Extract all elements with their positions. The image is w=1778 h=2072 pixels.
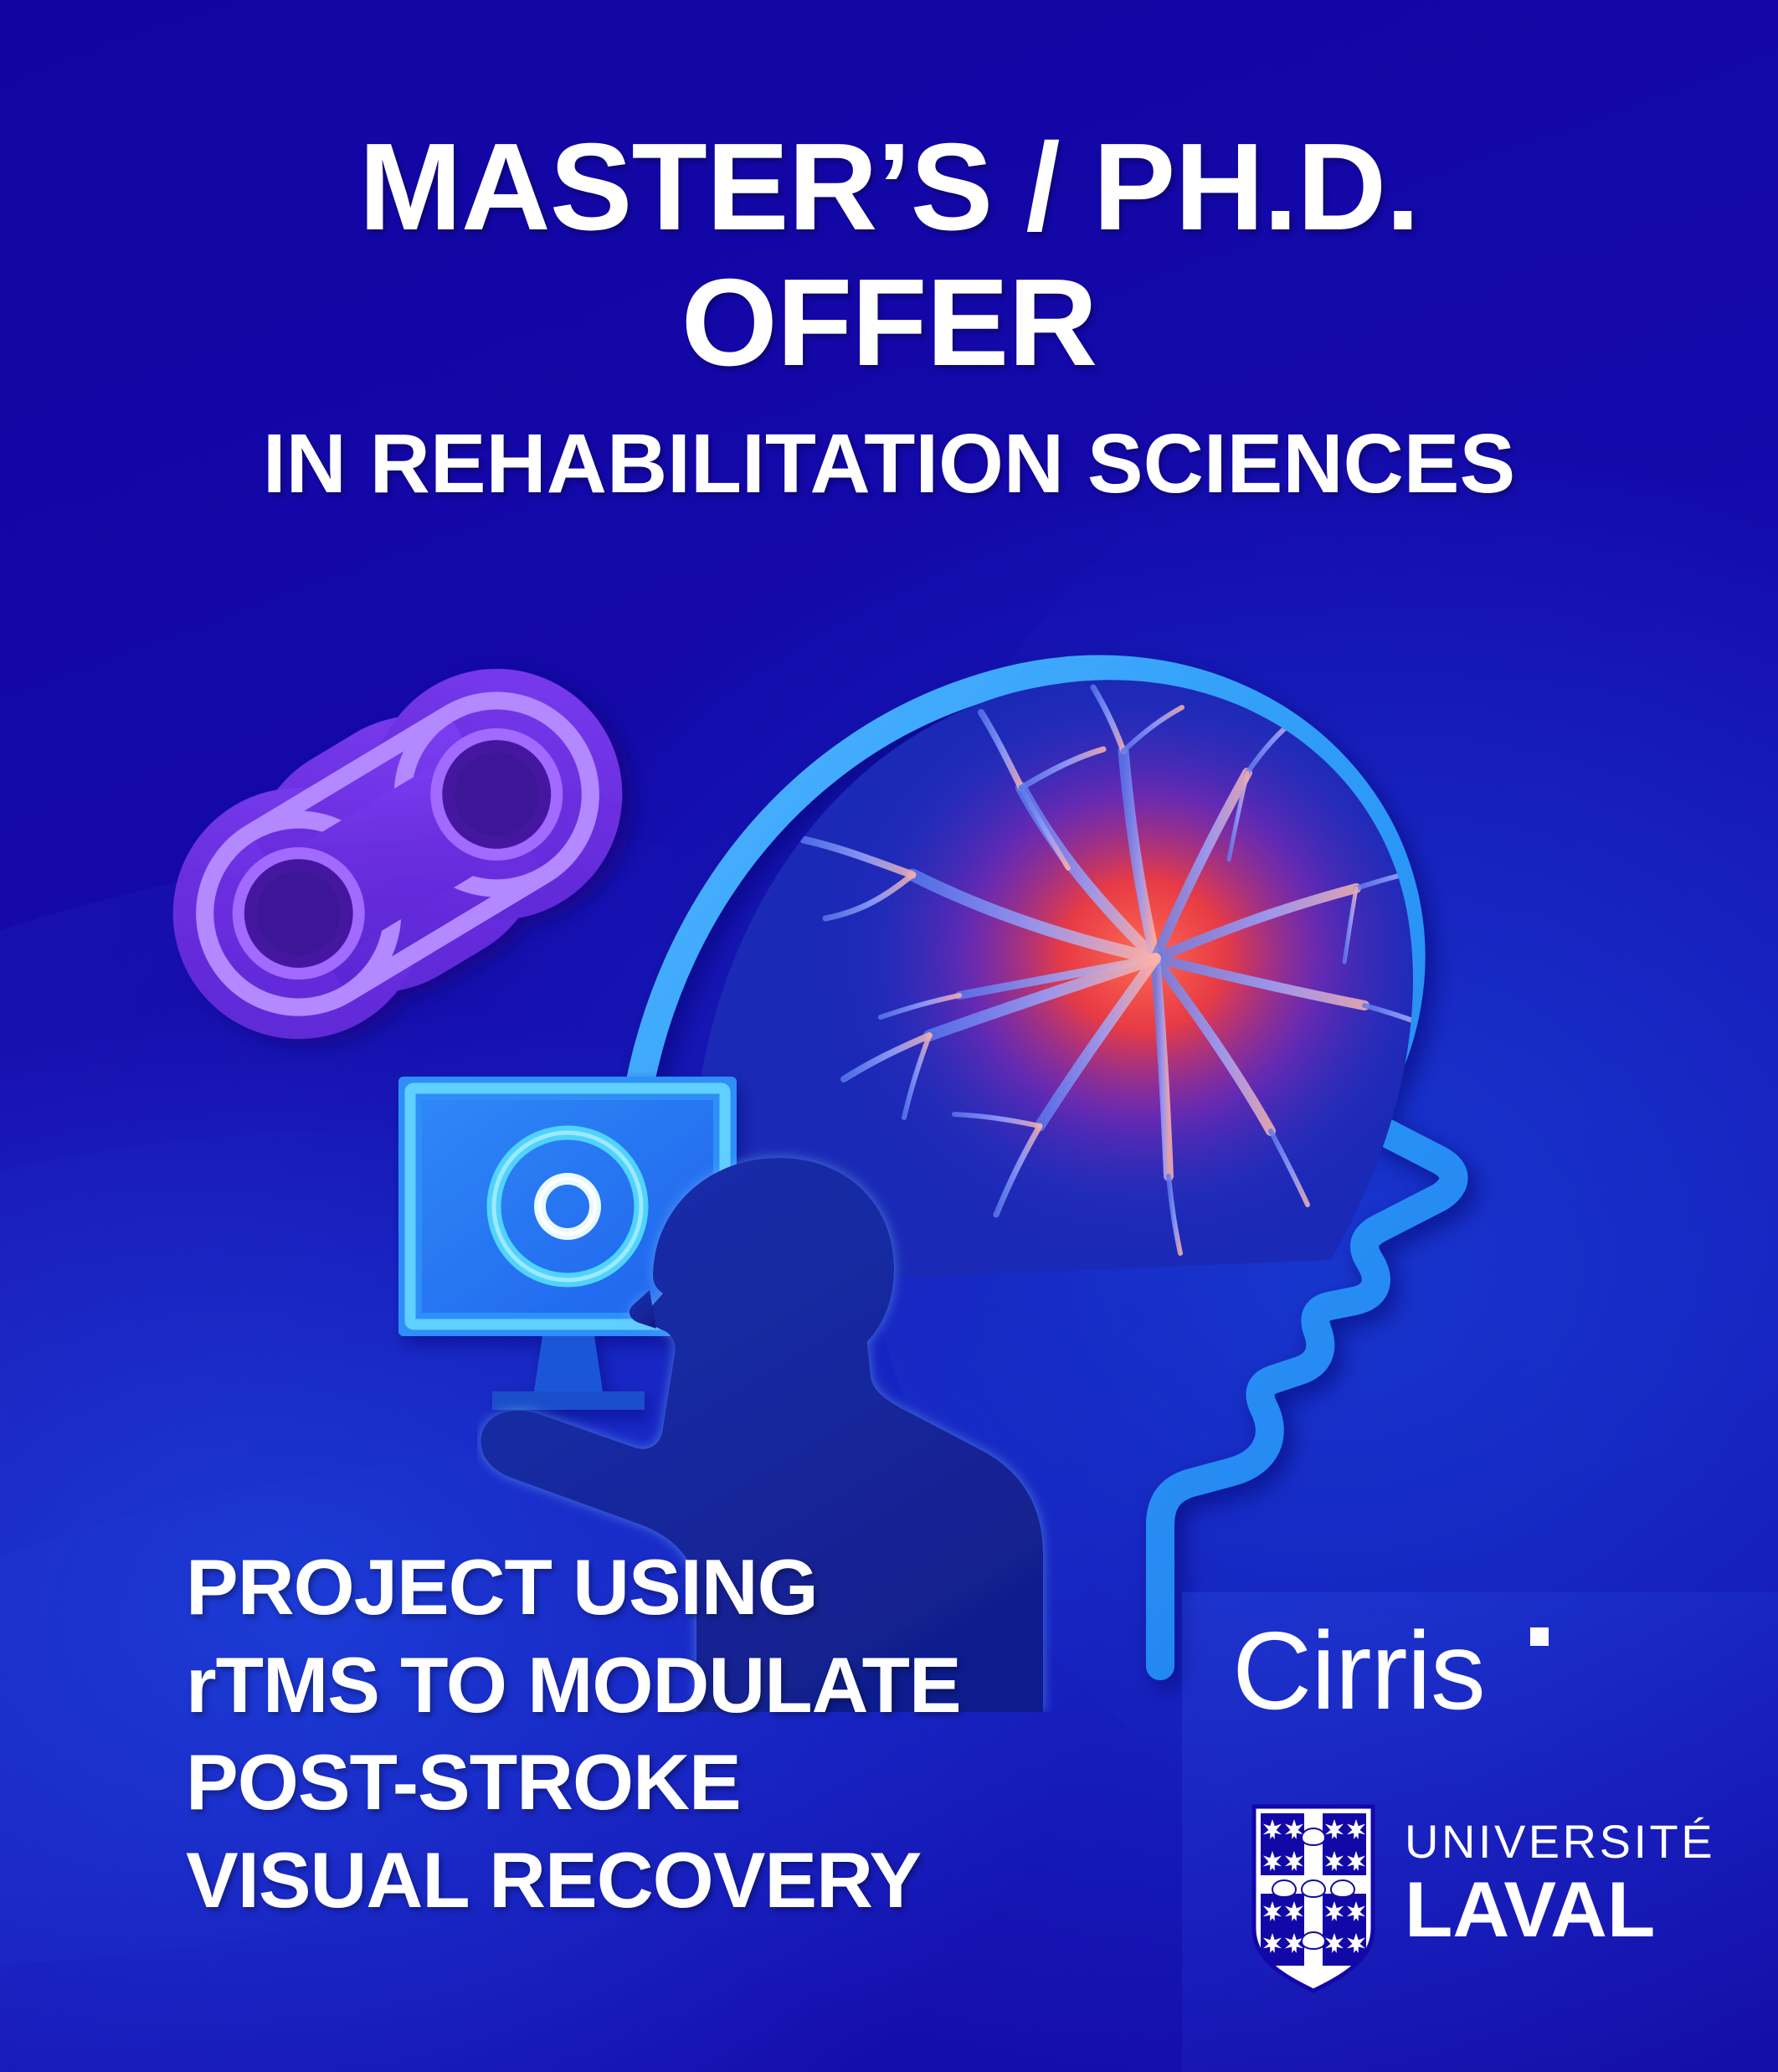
cirris-logo: Cirris — [1232, 1616, 1549, 1726]
universite-laval-crest-icon — [1251, 1803, 1376, 1994]
poster-canvas: MASTER’S / PH.D. OFFER IN REHABILITATION… — [0, 0, 1778, 2072]
laval-label: LAVAL — [1405, 1870, 1715, 1949]
universite-laval-logo: UNIVERSITÉ LAVAL — [1251, 1803, 1715, 1994]
project-line: VISUAL RECOVERY — [186, 1832, 1174, 1930]
project-line: POST-STROKE — [186, 1734, 1174, 1832]
universite-laval-wordmark: UNIVERSITÉ LAVAL — [1405, 1803, 1715, 1949]
page-title-line-1: MASTER’S / PH.D. — [0, 126, 1778, 249]
project-line: PROJECT USING — [186, 1539, 1174, 1637]
page-subtitle: IN REHABILITATION SCIENCES — [0, 422, 1778, 506]
page-title-line-2: OFFER — [0, 261, 1778, 385]
cirris-wordmark: Cirris — [1232, 1616, 1485, 1726]
project-description: PROJECT USING rTMS TO MODULATE POST-STRO… — [186, 1539, 1174, 1929]
project-line: rTMS TO MODULATE — [186, 1637, 1174, 1735]
poster-title-block: MASTER’S / PH.D. OFFER IN REHABILITATION… — [0, 126, 1778, 506]
cirris-square-dot-icon — [1530, 1627, 1549, 1646]
universite-label: UNIVERSITÉ — [1405, 1818, 1715, 1865]
tms-coil-icon — [121, 632, 674, 1076]
